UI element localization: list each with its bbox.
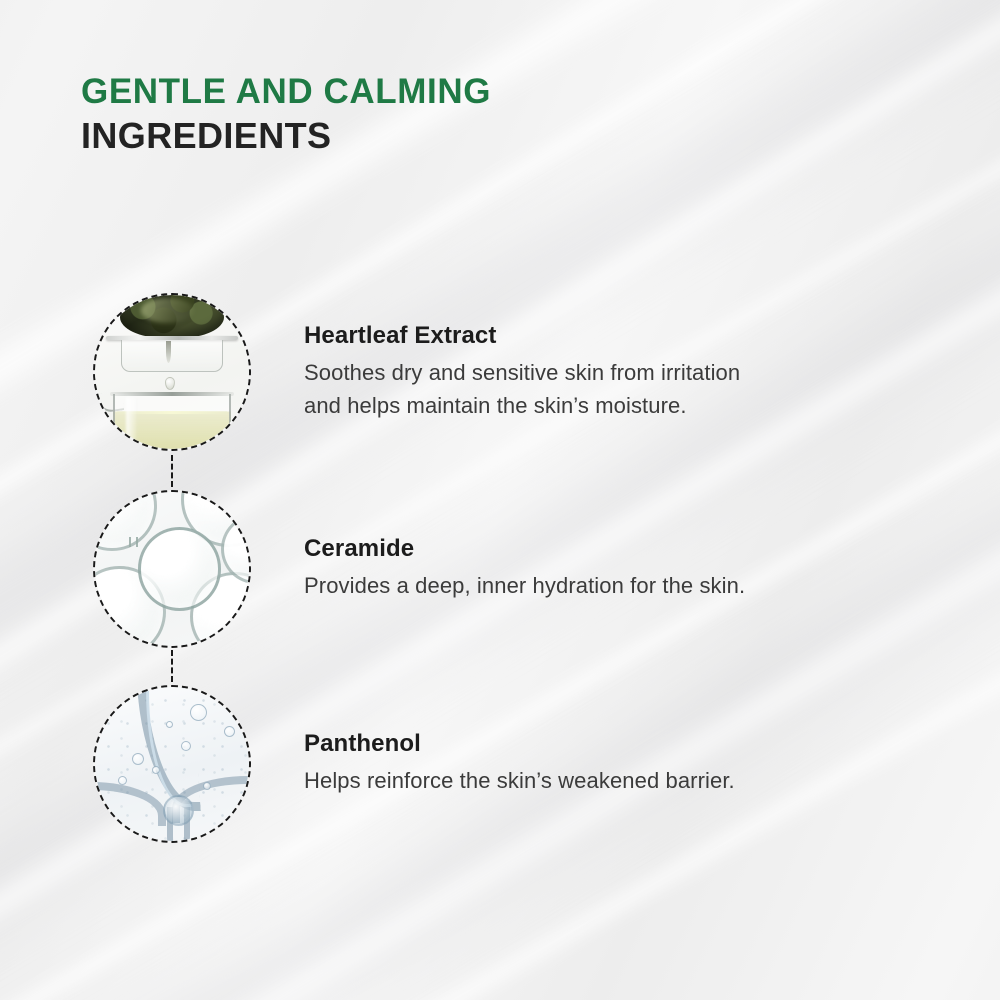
page-title-line-2: INGREDIENTS xyxy=(81,113,491,160)
ceramide-bubble-center xyxy=(138,527,221,610)
heartleaf-artwork xyxy=(95,295,249,449)
panthenol-bubble-2 xyxy=(224,726,235,737)
water-stream-junction xyxy=(163,795,194,826)
ingredient-text-panthenol: Panthenol Helps reinforce the skin’s wea… xyxy=(304,730,735,797)
panthenol-artwork xyxy=(95,687,249,841)
ingredient-name-panthenol: Panthenol xyxy=(304,730,735,758)
ceramide-artwork xyxy=(95,492,249,646)
strainer-cup-icon xyxy=(121,340,223,372)
ingredient-description-ceramide-line-1: Provides a deep, inner hydration for the… xyxy=(304,570,745,602)
extract-droplet-icon xyxy=(165,377,175,390)
ingredient-description-heartleaf-line-2: and helps maintain the skin’s moisture. xyxy=(304,390,740,422)
panthenol-bubble-8 xyxy=(166,721,173,728)
ingredient-name-heartleaf: Heartleaf Extract xyxy=(304,322,740,350)
ingredient-row-heartleaf: Heartleaf Extract Soothes dry and sensit… xyxy=(0,293,1000,451)
ingredient-description-panthenol-line-1: Helps reinforce the skin’s weakened barr… xyxy=(304,765,735,797)
ingredient-description-panthenol: Helps reinforce the skin’s weakened barr… xyxy=(304,765,735,797)
ingredient-text-heartleaf: Heartleaf Extract Soothes dry and sensit… xyxy=(304,322,740,422)
page-title-line-1: GENTLE AND CALMING xyxy=(81,72,491,113)
dashed-connector-1 xyxy=(171,455,173,487)
panthenol-bubble-5 xyxy=(152,766,160,774)
page-title: GENTLE AND CALMING INGREDIENTS xyxy=(81,72,491,159)
ingredient-image-panthenol xyxy=(93,685,251,843)
extract-drip-icon xyxy=(166,341,171,363)
ingredient-description-heartleaf: Soothes dry and sensitive skin from irri… xyxy=(304,357,740,422)
ingredient-description-heartleaf-line-1: Soothes dry and sensitive skin from irri… xyxy=(304,357,740,389)
ingredient-image-heartleaf-extract xyxy=(93,293,251,451)
beaker-rim-icon xyxy=(110,392,233,396)
ingredient-image-ceramide xyxy=(93,490,251,648)
heartleaf-leaf-highlight xyxy=(141,298,193,323)
ingredient-text-ceramide: Ceramide Provides a deep, inner hydratio… xyxy=(304,535,745,602)
ceramide-small-mark xyxy=(129,537,138,547)
dashed-connector-2 xyxy=(171,650,173,682)
ingredient-description-ceramide: Provides a deep, inner hydration for the… xyxy=(304,570,745,602)
ingredient-row-ceramide: Ceramide Provides a deep, inner hydratio… xyxy=(0,490,1000,648)
beaker-gloss-highlight xyxy=(126,397,138,449)
ingredient-name-ceramide: Ceramide xyxy=(304,535,745,563)
ingredient-row-panthenol: Panthenol Helps reinforce the skin’s wea… xyxy=(0,685,1000,843)
